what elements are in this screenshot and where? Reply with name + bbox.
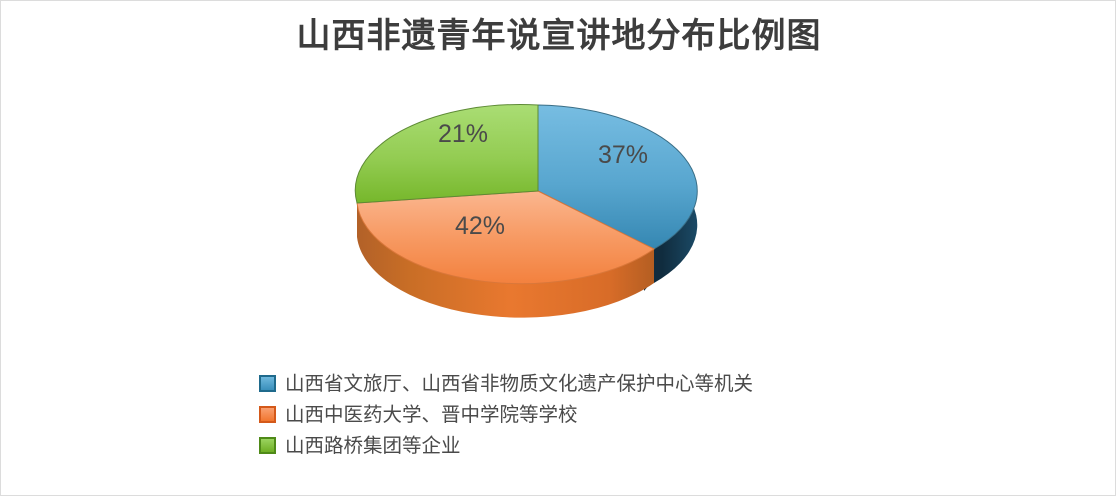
slice-label-orange: 42%: [455, 212, 505, 240]
legend-item-0[interactable]: 山西省文旅厅、山西省非物质文化遗产保护中心等机关: [259, 368, 1019, 399]
legend-label-0: 山西省文旅厅、山西省非物质文化遗产保护中心等机关: [285, 373, 753, 395]
legend-item-2[interactable]: 山西路桥集团等企业: [259, 430, 1019, 461]
legend-swatch-icon-2: [259, 437, 276, 454]
slice-label-green: 21%: [438, 120, 488, 148]
pie-chart-frame: 山西非遗青年说宣讲地分布比例图: [0, 0, 1116, 496]
pie-chart-graphic[interactable]: 37% 42% 21%: [341, 85, 741, 325]
chart-legend: 山西省文旅厅、山西省非物质文化遗产保护中心等机关 山西中医药大学、晋中学院等学校…: [259, 368, 1019, 461]
chart-title: 山西非遗青年说宣讲地分布比例图: [1, 13, 1116, 59]
legend-label-1: 山西中医药大学、晋中学院等学校: [285, 404, 578, 426]
legend-label-2: 山西路桥集团等企业: [285, 435, 461, 457]
slice-label-blue: 37%: [598, 141, 648, 169]
legend-item-1[interactable]: 山西中医药大学、晋中学院等学校: [259, 399, 1019, 430]
legend-swatch-icon-1: [259, 406, 276, 423]
legend-swatch-icon-0: [259, 375, 276, 392]
pie-svg: 37% 42% 21%: [341, 85, 741, 325]
